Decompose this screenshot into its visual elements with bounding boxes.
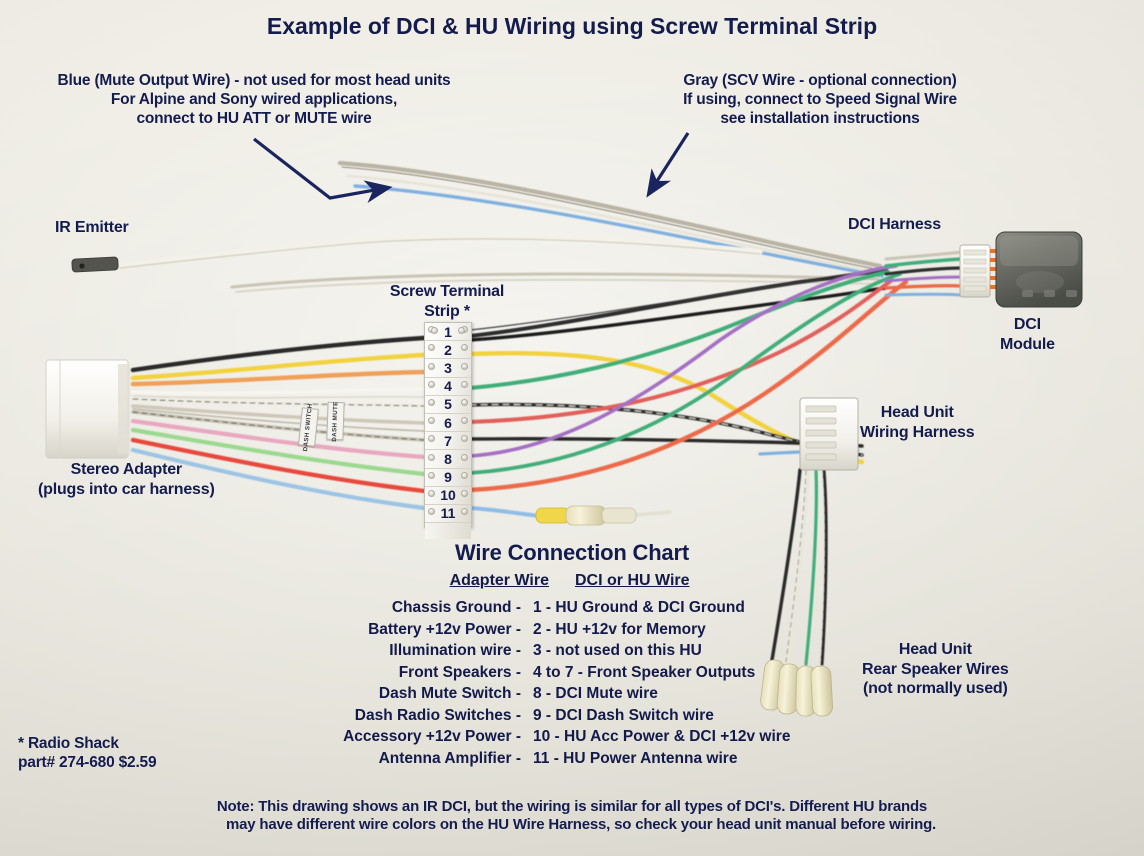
chart-cell-dci-hu: HU Power Antenna wire <box>563 750 737 767</box>
label-dci-module-line1: DCI <box>1000 315 1055 335</box>
callout-blue-line3: connect to HU ATT or MUTE wire <box>14 110 494 129</box>
terminal-number: 4 <box>444 379 452 393</box>
wiring-diagram-page: 1 2 3 4 5 6 7 8 <box>0 0 1144 856</box>
label-dci-module: DCI Module <box>1000 315 1055 354</box>
chart-row: Dash Radio Switches - 9 - DCI Dash Switc… <box>0 705 1144 727</box>
chart-cell-adapter: Battery +12v Power - <box>211 619 527 641</box>
chart-cell-terminal: 2 - <box>533 621 551 638</box>
callout-gray-line2: If using, connect to Speed Signal Wire <box>620 91 1020 110</box>
chart-row: Illumination wire - 3 - not used on this… <box>0 640 1144 662</box>
chart-cell-dci-hu: HU Acc Power & DCI +12v wire <box>564 728 790 745</box>
footnote-radio-shack: * Radio Shack part# 274-680 $2.59 <box>18 735 156 773</box>
chart-cell-terminal: 10 - <box>533 728 560 745</box>
callout-blue-line1: Blue (Mute Output Wire) - not used for m… <box>14 72 494 91</box>
chart-header-dci-hu: DCI or HU Wire <box>575 572 690 589</box>
terminal-row: 5 <box>425 396 471 414</box>
callout-blue-wire: Blue (Mute Output Wire) - not used for m… <box>14 72 494 129</box>
terminal-number: 9 <box>444 470 452 484</box>
terminal-strip-foot <box>425 523 471 539</box>
label-dci-module-line2: Module <box>1000 335 1055 355</box>
label-strip-line1: Screw Terminal <box>372 282 522 302</box>
label-strip-line2: Strip * <box>372 302 522 322</box>
chart-header-row: Adapter Wire DCI or HU Wire <box>0 572 1144 590</box>
terminal-number: 8 <box>444 452 452 466</box>
chart-cell-adapter: Illumination wire - <box>211 640 527 662</box>
chart-row: Battery +12v Power - 2 - HU +12v for Mem… <box>0 619 1144 641</box>
label-hu-harness-line1: Head Unit <box>860 403 974 423</box>
callout-gray-wire: Gray (SCV Wire - optional connection) If… <box>620 72 1020 129</box>
label-hu-harness-line2: Wiring Harness <box>860 423 974 443</box>
terminal-row: 3 <box>425 359 471 377</box>
label-ir-emitter: IR Emitter <box>55 218 129 238</box>
chart-row: Antenna Amplifier - 11 - HU Power Antenn… <box>0 748 1144 770</box>
chart-cell-terminal: 3 - <box>533 642 551 659</box>
label-screw-terminal-strip: Screw Terminal Strip * <box>372 282 522 321</box>
chart-row: Chassis Ground - 1 - HU Ground & DCI Gro… <box>0 597 1144 619</box>
footnote-line1: * Radio Shack <box>18 735 156 754</box>
chart-cell-terminal: 1 - <box>533 599 551 616</box>
label-stereo-adapter: Stereo Adapter (plugs into car harness) <box>38 460 215 499</box>
bottom-note: Note: This drawing shows an IR DCI, but … <box>0 798 1144 835</box>
terminal-row: 4 <box>425 378 471 396</box>
callout-blue-line2: For Alpine and Sony wired applications, <box>14 91 494 110</box>
terminal-row: 11 <box>425 505 471 523</box>
terminal-row: 2 <box>425 341 471 359</box>
screw-terminal-strip: 1 2 3 4 5 6 7 8 <box>424 322 472 528</box>
callout-gray-line1: Gray (SCV Wire - optional connection) <box>620 72 1020 91</box>
wire-connection-chart: Adapter Wire DCI or HU Wire Chassis Grou… <box>0 572 1144 769</box>
terminal-number: 1 <box>444 325 452 339</box>
footnote-line2: part# 274-680 $2.59 <box>18 754 156 773</box>
chart-cell-adapter: Chassis Ground - <box>211 597 527 619</box>
terminal-row: 7 <box>425 432 471 450</box>
terminal-number: 3 <box>444 361 452 375</box>
terminal-number: 2 <box>444 343 452 357</box>
wire-tag-dash-mute: DASH MUTE <box>326 402 344 441</box>
terminal-row: 8 <box>425 450 471 468</box>
chart-cell-dci-hu: DCI Mute wire <box>555 685 657 702</box>
chart-cell-adapter: Accessory +12v Power - <box>211 726 527 748</box>
chart-cell-adapter: Front Speakers - <box>211 662 527 684</box>
note-line2: may have different wire colors on the HU… <box>0 816 1144 834</box>
chart-cell-terminal: 8 - <box>533 685 551 702</box>
terminal-number: 5 <box>444 397 452 411</box>
chart-row: Dash Mute Switch - 8 - DCI Mute wire <box>0 683 1144 705</box>
note-line1: Note: This drawing shows an IR DCI, but … <box>0 798 1144 816</box>
chart-title: Wire Connection Chart <box>0 540 1144 567</box>
chart-cell-adapter: Dash Mute Switch - <box>211 683 527 705</box>
chart-cell-dci-hu: not used on this HU <box>555 642 701 659</box>
terminal-row: 6 <box>425 414 471 432</box>
chart-cell-dci-hu: HU +12v for Memory <box>555 621 705 638</box>
terminal-row: 10 <box>425 487 471 505</box>
chart-cell-terminal: 9 - <box>533 707 551 724</box>
arrow-to-gray-wire <box>650 133 688 192</box>
chart-cell-dci-hu: DCI Dash Switch wire <box>555 707 713 724</box>
terminal-number: 10 <box>440 488 456 502</box>
chart-cell-dci-hu: Front Speaker Outputs <box>587 664 755 681</box>
label-stereo-adapter-line2: (plugs into car harness) <box>38 480 215 500</box>
arrow-to-blue-wire <box>254 139 386 198</box>
chart-cell-adapter: Dash Radio Switches - <box>211 705 527 727</box>
label-stereo-adapter-line1: Stereo Adapter <box>38 460 215 480</box>
terminal-number: 7 <box>444 434 452 448</box>
chart-header-adapter: Adapter Wire <box>450 572 549 589</box>
chart-cell-adapter: Antenna Amplifier - <box>211 748 527 770</box>
chart-row: Accessory +12v Power - 10 - HU Acc Power… <box>0 726 1144 748</box>
terminal-number: 6 <box>444 416 452 430</box>
label-dci-harness: DCI Harness <box>848 215 941 235</box>
page-title: Example of DCI & HU Wiring using Screw T… <box>0 12 1144 40</box>
chart-row: Front Speakers - 4 to 7 - Front Speaker … <box>0 662 1144 684</box>
chart-cell-dci-hu: HU Ground & DCI Ground <box>555 599 744 616</box>
terminal-number: 11 <box>441 506 456 520</box>
chart-cell-terminal: 11 - <box>533 750 559 767</box>
label-head-unit-wiring-harness: Head Unit Wiring Harness <box>860 403 974 442</box>
chart-cell-terminal: 4 to 7 - <box>533 664 583 681</box>
terminal-row: 9 <box>425 469 471 487</box>
callout-gray-line3: see installation instructions <box>620 110 1020 129</box>
